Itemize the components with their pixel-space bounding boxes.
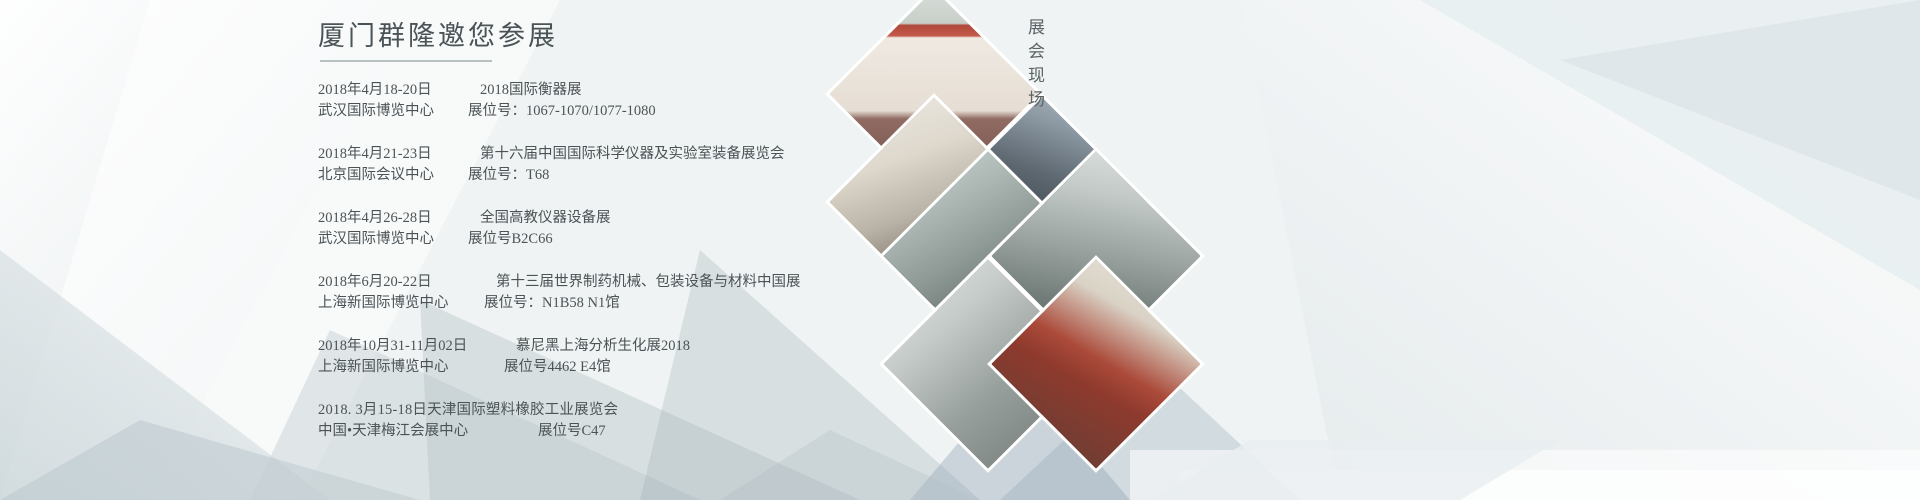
- entry-date: 2018年4月18-20日: [318, 80, 454, 101]
- entry-expo-name: 慕尼黑上海分析生化展2018: [516, 336, 690, 357]
- entry-venue: 中国•天津梅江会展中心: [318, 421, 524, 442]
- exhibition-banner: 厦门群隆邀您参展 2018年4月18-20日 2018国际衡器展 武汉国际博览中…: [0, 0, 1920, 500]
- vertical-section-label: 展会现场: [1022, 18, 1047, 114]
- entry-expo-name: 2018国际衡器展: [480, 80, 582, 101]
- entry-venue: 上海新国际博览中心: [318, 357, 490, 378]
- entry-date: 2018. 3月15-18日天津国际塑料橡胶工业展览会: [318, 400, 618, 421]
- entry-date: 2018年4月21-23日: [318, 144, 454, 165]
- entry-expo-name: 第十三届世界制药机械、包装设备与材料中国展: [496, 272, 801, 293]
- entry-venue: 北京国际会议中心: [318, 165, 454, 186]
- entry-expo-name: 第十六届中国国际科学仪器及实验室装备展览会: [480, 144, 785, 165]
- entry-booth: 展位号：T68: [468, 165, 549, 186]
- entry-venue: 武汉国际博览中心: [318, 101, 454, 122]
- entry-date: 2018年6月20-22日: [318, 272, 470, 293]
- entry-date: 2018年10月31-11月02日: [318, 336, 490, 357]
- entry-date: 2018年4月26-28日: [318, 208, 454, 229]
- title-underline: [320, 60, 492, 62]
- entry-booth: 展位号：1067-1070/1077-1080: [468, 101, 656, 122]
- entry-expo-name: 全国高教仪器设备展: [480, 208, 611, 229]
- entry-venue: 武汉国际博览中心: [318, 229, 454, 250]
- entry-booth: 展位号：N1B58 N1馆: [484, 293, 620, 314]
- entry-venue: 上海新国际博览中心: [318, 293, 470, 314]
- entry-booth: 展位号4462 E4馆: [504, 357, 611, 378]
- entry-booth: 展位号C47: [538, 421, 606, 442]
- entry-booth: 展位号B2C66: [468, 229, 553, 250]
